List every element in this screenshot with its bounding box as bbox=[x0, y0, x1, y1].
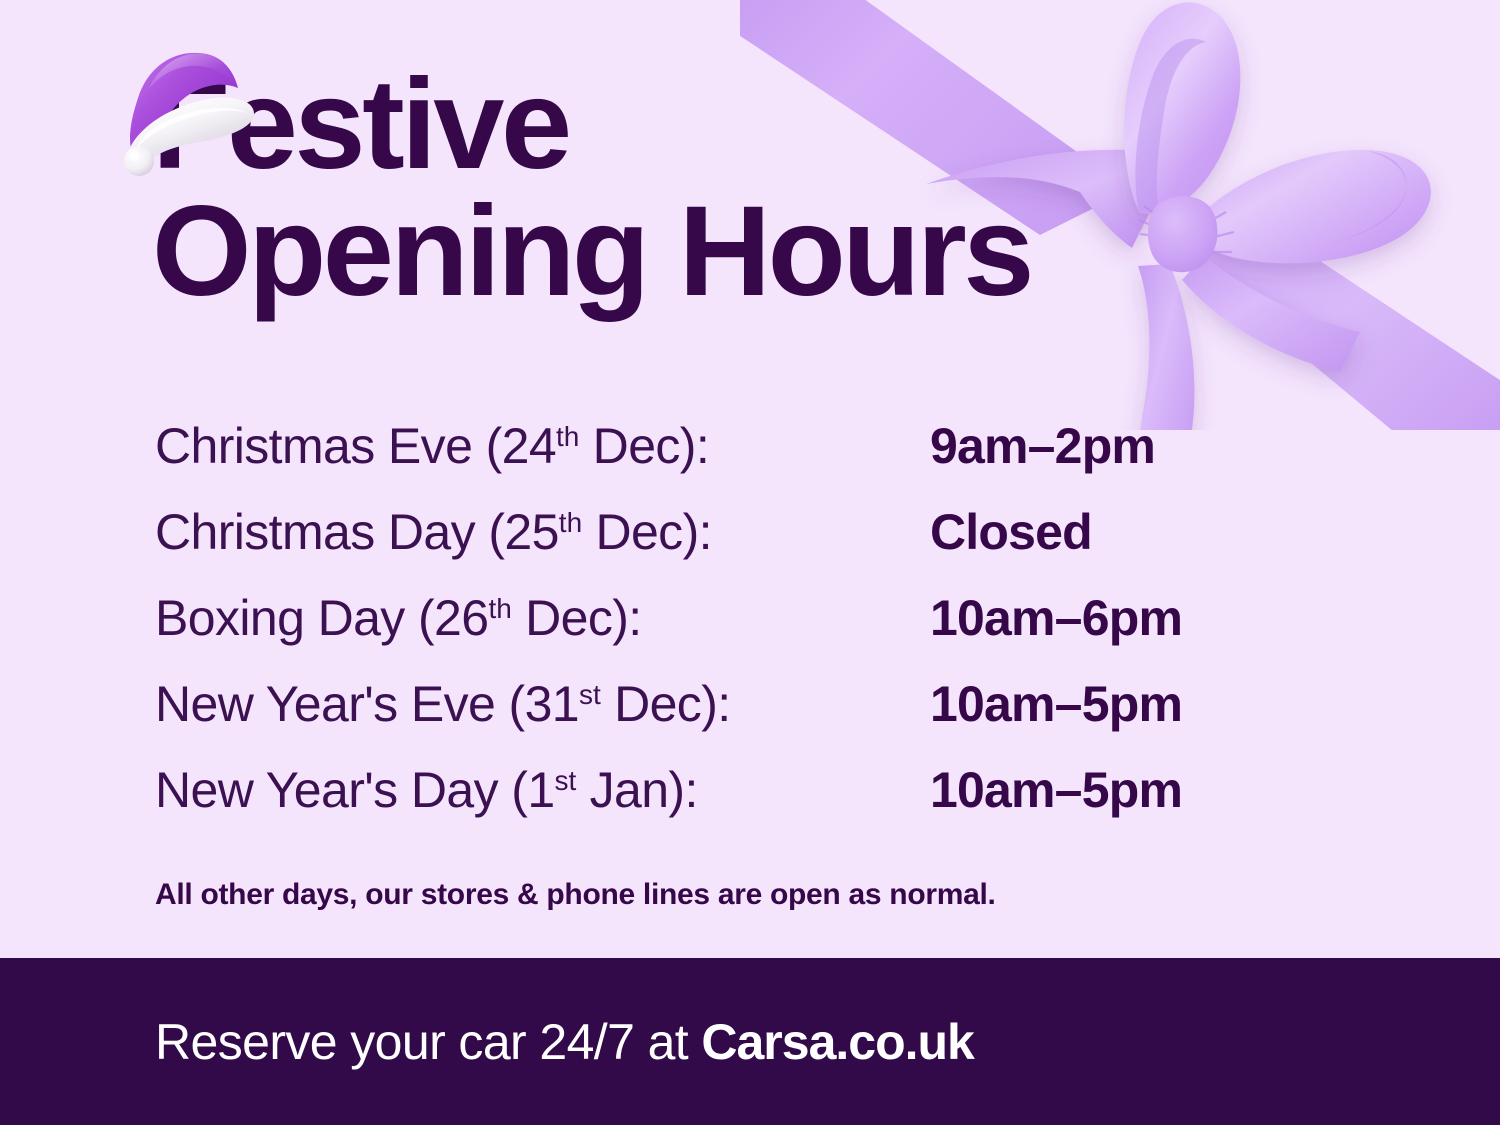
footer-cta: Reserve your car 24/7 at Carsa.co.uk bbox=[155, 1013, 974, 1071]
day-label: New Year's Day (1st Jan): bbox=[155, 762, 930, 818]
page-title: Festive Opening Hours bbox=[152, 62, 1272, 315]
ordinal-suffix: st bbox=[579, 679, 601, 710]
brand-name: Carsa.co.uk bbox=[701, 1014, 973, 1070]
day-label: Christmas Day (25th Dec): bbox=[155, 504, 930, 560]
ordinal-suffix: th bbox=[556, 421, 579, 452]
footer-cta-prefix: Reserve your car 24/7 at bbox=[155, 1014, 701, 1070]
day-label: Boxing Day (26th Dec): bbox=[155, 590, 930, 646]
santa-hat-icon bbox=[112, 44, 262, 179]
ordinal-suffix: st bbox=[555, 765, 577, 796]
hours-value: 10am–5pm bbox=[930, 676, 1182, 732]
opening-hours-table: Christmas Eve (24th Dec): 9am–2pm Christ… bbox=[155, 418, 1265, 848]
table-row: Boxing Day (26th Dec): 10am–6pm bbox=[155, 590, 1265, 676]
ordinal-suffix: th bbox=[559, 507, 582, 538]
hours-value: 9am–2pm bbox=[930, 418, 1155, 474]
day-label: Christmas Eve (24th Dec): bbox=[155, 418, 930, 474]
footer-banner: Reserve your car 24/7 at Carsa.co.uk bbox=[0, 958, 1500, 1125]
table-row: Christmas Eve (24th Dec): 9am–2pm bbox=[155, 418, 1265, 504]
table-row: Christmas Day (25th Dec): Closed bbox=[155, 504, 1265, 590]
footnote-text: All other days, our stores & phone lines… bbox=[155, 878, 996, 912]
day-label: New Year's Eve (31st Dec): bbox=[155, 676, 930, 732]
hours-value: 10am–5pm bbox=[930, 762, 1182, 818]
table-row: New Year's Day (1st Jan): 10am–5pm bbox=[155, 762, 1265, 848]
hours-value: Closed bbox=[930, 504, 1092, 560]
ordinal-suffix: th bbox=[488, 593, 511, 624]
hours-value: 10am–6pm bbox=[930, 590, 1182, 646]
headline-line-1: Festive bbox=[152, 62, 1272, 189]
headline-line-2: Opening Hours bbox=[152, 189, 1272, 316]
festive-opening-hours-poster: Festive Opening Hours bbox=[0, 0, 1500, 1125]
table-row: New Year's Eve (31st Dec): 10am–5pm bbox=[155, 676, 1265, 762]
